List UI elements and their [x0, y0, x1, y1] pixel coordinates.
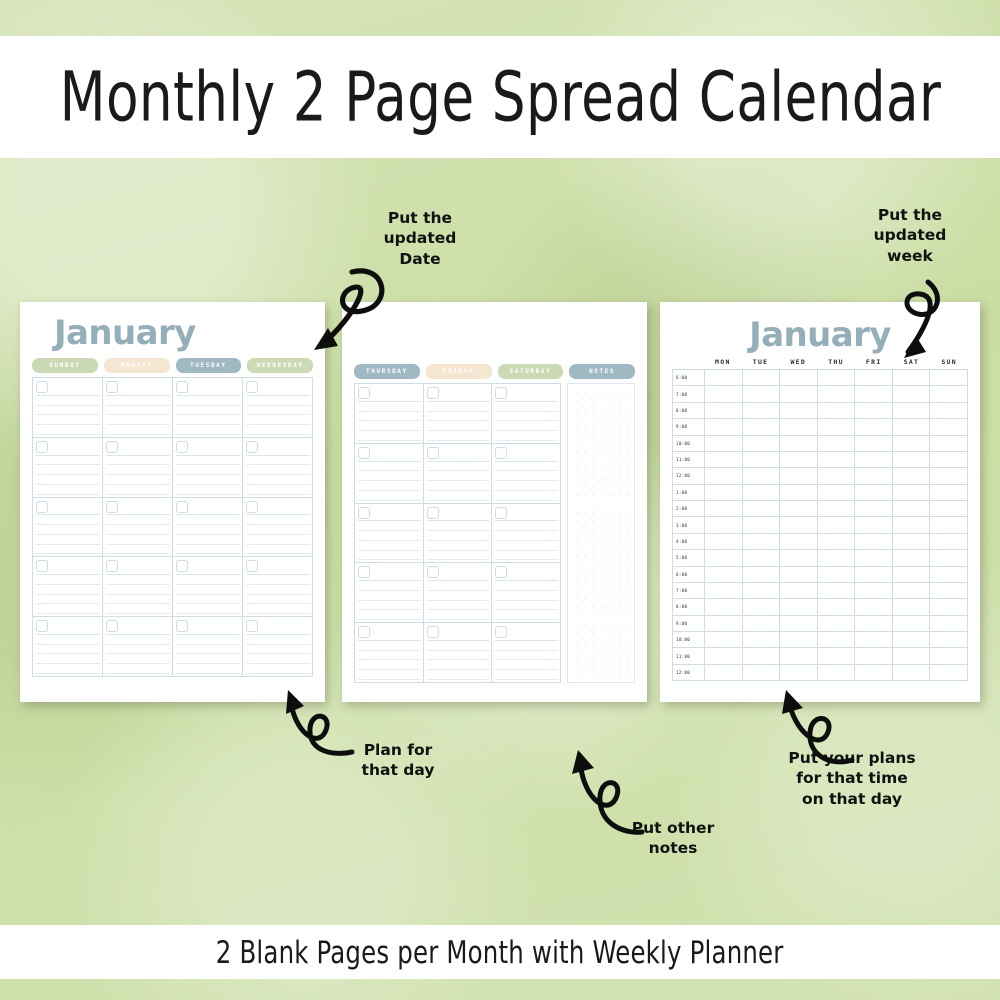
month-day-column[interactable]: [424, 384, 493, 682]
weekly-slot-cell[interactable]: [855, 370, 893, 385]
time-label: 11:00: [673, 452, 705, 467]
month-day-cell[interactable]: [492, 623, 560, 682]
month-day-cell[interactable]: [492, 444, 560, 504]
month-day-cell[interactable]: [424, 623, 492, 682]
weekly-slot-cell[interactable]: [705, 583, 743, 598]
weekly-slot-cell[interactable]: [893, 436, 931, 451]
writing-line: [36, 635, 100, 645]
writing-line: [176, 604, 240, 614]
weekly-slot-cell[interactable]: [930, 517, 967, 532]
writing-line: [176, 595, 240, 605]
weekly-slot-cell[interactable]: [855, 501, 893, 516]
weekly-slot-cell[interactable]: [780, 386, 818, 401]
weekly-slot-cell[interactable]: [705, 403, 743, 418]
writing-line: [495, 541, 558, 551]
weekly-slot-cell[interactable]: [893, 534, 931, 549]
weekly-slot-cell[interactable]: [705, 534, 743, 549]
weekly-slot-cell[interactable]: [705, 616, 743, 631]
writing-line: [176, 575, 240, 585]
weekly-slot-cell[interactable]: [743, 436, 781, 451]
date-number-box[interactable]: [106, 620, 118, 632]
weekly-slot-cell[interactable]: [743, 583, 781, 598]
weekly-slot-cell[interactable]: [893, 485, 931, 500]
writing-line: [106, 575, 170, 585]
weekly-slot-cell[interactable]: [893, 599, 931, 614]
weekly-slot-cell[interactable]: [818, 632, 856, 647]
weekly-slot-cell[interactable]: [893, 632, 931, 647]
date-number-box[interactable]: [427, 507, 439, 519]
writing-line: [358, 551, 421, 561]
weekly-slot-cell[interactable]: [893, 567, 931, 582]
writing-line: [106, 415, 170, 425]
date-number-box[interactable]: [176, 560, 188, 572]
weekly-slot-cell[interactable]: [893, 501, 931, 516]
monthly-spread-left-page[interactable]: January SUNDAY MONDAY TUESDAY WEDNESDAY: [20, 302, 325, 702]
weekly-slot-cell[interactable]: [705, 517, 743, 532]
weekly-slot-cell[interactable]: [855, 468, 893, 483]
date-number-box[interactable]: [176, 381, 188, 393]
weekly-slot-cell[interactable]: [743, 616, 781, 631]
weekly-slot-cell[interactable]: [855, 436, 893, 451]
date-number-box[interactable]: [176, 501, 188, 513]
weekly-slot-cell[interactable]: [705, 485, 743, 500]
weekly-slot-cell[interactable]: [930, 436, 967, 451]
month-day-cell[interactable]: [424, 563, 492, 623]
writing-line: [106, 406, 170, 416]
writing-lines: [358, 571, 421, 620]
writing-line: [358, 471, 421, 481]
weekly-slot-cell[interactable]: [705, 419, 743, 434]
weekly-slot-cell[interactable]: [743, 468, 781, 483]
weekly-slot-cell[interactable]: [818, 419, 856, 434]
weekly-slot-cell[interactable]: [818, 501, 856, 516]
date-number-box[interactable]: [495, 626, 507, 638]
weekly-slot-cell[interactable]: [743, 485, 781, 500]
date-number-box[interactable]: [36, 441, 48, 453]
weekly-slot-cell[interactable]: [743, 370, 781, 385]
weekly-slot-cell[interactable]: [855, 616, 893, 631]
weekly-slot-cell[interactable]: [855, 583, 893, 598]
writing-line: [495, 421, 558, 431]
monthly-grid-right[interactable]: [354, 383, 561, 683]
date-number-box[interactable]: [36, 560, 48, 572]
weekly-slot-cell[interactable]: [818, 468, 856, 483]
weekly-slot-cell[interactable]: [818, 567, 856, 582]
writing-line: [106, 465, 170, 475]
month-day-cell[interactable]: [243, 498, 312, 558]
weekly-slot-cell[interactable]: [818, 550, 856, 565]
writing-lines: [246, 506, 310, 555]
date-number-box[interactable]: [106, 501, 118, 513]
writing-lines: [495, 571, 558, 620]
weekly-time-row: 4:00: [673, 534, 967, 550]
weekly-slot-cell[interactable]: [705, 599, 743, 614]
writing-line: [246, 545, 310, 555]
writing-line: [176, 415, 240, 425]
month-day-cell[interactable]: [103, 617, 172, 676]
writing-lines: [106, 386, 170, 435]
weekly-slot-cell[interactable]: [743, 632, 781, 647]
weekly-slot-cell[interactable]: [743, 386, 781, 401]
weekly-slot-cell[interactable]: [893, 648, 931, 663]
weekly-slot-cell[interactable]: [818, 648, 856, 663]
weekly-slot-cell[interactable]: [780, 648, 818, 663]
month-day-column[interactable]: [173, 378, 243, 676]
month-day-cell[interactable]: [33, 617, 102, 676]
writing-line: [246, 475, 310, 485]
weekly-slot-cell[interactable]: [780, 485, 818, 500]
date-number-box[interactable]: [495, 507, 507, 519]
weekly-slot-cell[interactable]: [780, 452, 818, 467]
date-number-box[interactable]: [358, 566, 370, 578]
weekly-slot-cell[interactable]: [855, 632, 893, 647]
weekly-slot-cell[interactable]: [818, 386, 856, 401]
weekly-slot-cell[interactable]: [930, 567, 967, 582]
writing-line: [106, 664, 170, 674]
month-day-cell[interactable]: [492, 384, 560, 444]
writing-line: [176, 425, 240, 435]
weekly-slot-cell[interactable]: [780, 501, 818, 516]
weekly-slot-cell[interactable]: [780, 370, 818, 385]
date-number-box[interactable]: [495, 447, 507, 459]
time-label: 8:00: [673, 403, 705, 418]
month-day-cell[interactable]: [103, 438, 172, 498]
month-day-cell[interactable]: [424, 384, 492, 444]
weekly-slot-cell[interactable]: [855, 386, 893, 401]
monthly-grid-left[interactable]: [32, 377, 313, 677]
writing-line: [36, 415, 100, 425]
writing-line: [176, 485, 240, 495]
weekly-slot-cell[interactable]: [855, 452, 893, 467]
weekly-slot-cell[interactable]: [743, 419, 781, 434]
monthly-spread-right-page[interactable]: THURSDAY FRIDAY SATURDAY NOTES: [342, 302, 647, 702]
weekly-slot-cell[interactable]: [893, 468, 931, 483]
weekly-slot-cell[interactable]: [780, 567, 818, 582]
weekly-time-row: 7:00: [673, 386, 967, 402]
date-number-box[interactable]: [36, 501, 48, 513]
weekly-slot-cell[interactable]: [743, 501, 781, 516]
date-number-box[interactable]: [358, 626, 370, 638]
weekly-slot-cell[interactable]: [930, 583, 967, 598]
month-day-cell[interactable]: [355, 444, 423, 504]
writing-line: [358, 641, 421, 651]
month-day-cell[interactable]: [355, 504, 423, 564]
writing-line: [246, 645, 310, 655]
weekly-slot-cell[interactable]: [818, 534, 856, 549]
weekly-slot-cell[interactable]: [893, 452, 931, 467]
month-day-column[interactable]: [243, 378, 313, 676]
weekly-slot-cell[interactable]: [743, 599, 781, 614]
weekly-slot-cell[interactable]: [855, 534, 893, 549]
month-day-cell[interactable]: [243, 438, 312, 498]
date-number-box[interactable]: [427, 566, 439, 578]
writing-line: [358, 670, 421, 680]
weekly-slot-cell[interactable]: [818, 436, 856, 451]
weekly-slot-cell[interactable]: [705, 370, 743, 385]
time-label: 9:00: [673, 616, 705, 631]
month-day-column[interactable]: [103, 378, 173, 676]
month-day-cell[interactable]: [355, 563, 423, 623]
weekly-slot-cell[interactable]: [930, 616, 967, 631]
weekly-slot-cell[interactable]: [705, 386, 743, 401]
weekly-slot-cell[interactable]: [930, 403, 967, 418]
writing-lines: [106, 506, 170, 555]
writing-line: [495, 491, 558, 501]
month-day-cell[interactable]: [33, 378, 102, 438]
date-number-box[interactable]: [427, 387, 439, 399]
month-day-cell[interactable]: [243, 557, 312, 617]
weekly-slot-cell[interactable]: [855, 485, 893, 500]
month-day-cell[interactable]: [173, 378, 242, 438]
day-header-row-left: SUNDAY MONDAY TUESDAY WEDNESDAY: [32, 358, 313, 373]
weekly-slot-cell[interactable]: [705, 501, 743, 516]
month-day-cell[interactable]: [243, 617, 312, 676]
weekly-slot-cell[interactable]: [743, 403, 781, 418]
month-day-cell[interactable]: [33, 438, 102, 498]
weekly-slot-cell[interactable]: [705, 567, 743, 582]
weekly-slot-cell[interactable]: [818, 517, 856, 532]
writing-lines: [36, 506, 100, 555]
weekly-slot-cell[interactable]: [705, 550, 743, 565]
writing-line: [246, 664, 310, 674]
writing-lines: [427, 452, 490, 501]
writing-line: [358, 402, 421, 412]
writing-line: [358, 591, 421, 601]
weekly-slot-cell[interactable]: [855, 419, 893, 434]
writing-line: [106, 545, 170, 555]
writing-line: [36, 485, 100, 495]
month-day-cell[interactable]: [33, 498, 102, 558]
month-day-cell[interactable]: [173, 557, 242, 617]
weekly-slot-cell[interactable]: [893, 419, 931, 434]
writing-line: [358, 601, 421, 611]
date-number-box[interactable]: [106, 441, 118, 453]
weekly-slot-cell[interactable]: [930, 468, 967, 483]
weekly-slot-cell[interactable]: [893, 517, 931, 532]
month-day-cell[interactable]: [492, 563, 560, 623]
month-day-cell[interactable]: [103, 498, 172, 558]
weekly-slot-cell[interactable]: [855, 550, 893, 565]
weekly-slot-cell[interactable]: [780, 632, 818, 647]
day-header-saturday: SATURDAY: [498, 364, 564, 379]
weekly-slot-cell[interactable]: [855, 599, 893, 614]
weekly-slot-cell[interactable]: [930, 550, 967, 565]
writing-line: [36, 595, 100, 605]
writing-line: [495, 591, 558, 601]
date-number-box[interactable]: [495, 387, 507, 399]
writing-line: [106, 654, 170, 664]
month-day-cell[interactable]: [492, 504, 560, 564]
writing-line: [427, 421, 490, 431]
monthly-right-content: THURSDAY FRIDAY SATURDAY NOTES: [342, 302, 647, 702]
writing-line: [427, 402, 490, 412]
month-day-cell[interactable]: [243, 378, 312, 438]
weekly-slot-cell[interactable]: [930, 485, 967, 500]
month-day-column[interactable]: [492, 384, 561, 682]
writing-lines: [495, 452, 558, 501]
weekly-slot-cell[interactable]: [705, 452, 743, 467]
weekly-slot-cell[interactable]: [780, 403, 818, 418]
weekly-slot-cell[interactable]: [780, 599, 818, 614]
month-day-cell[interactable]: [33, 557, 102, 617]
date-number-box[interactable]: [358, 447, 370, 459]
month-day-cell[interactable]: [173, 617, 242, 676]
weekly-slot-cell[interactable]: [743, 517, 781, 532]
weekly-slot-cell[interactable]: [930, 370, 967, 385]
month-day-cell[interactable]: [103, 557, 172, 617]
date-number-box[interactable]: [246, 560, 258, 572]
weekly-slot-cell[interactable]: [893, 550, 931, 565]
weekly-slot-cell[interactable]: [893, 665, 931, 680]
weekly-slot-cell[interactable]: [930, 599, 967, 614]
weekly-slot-cell[interactable]: [855, 665, 893, 680]
weekly-slot-cell[interactable]: [780, 517, 818, 532]
weekly-time-row: 9:00: [673, 419, 967, 435]
weekly-slot-cell[interactable]: [855, 567, 893, 582]
weekly-slot-cell[interactable]: [705, 665, 743, 680]
date-number-box[interactable]: [176, 620, 188, 632]
date-number-box[interactable]: [495, 566, 507, 578]
date-number-box[interactable]: [246, 441, 258, 453]
writing-lines: [358, 392, 421, 441]
weekly-slot-cell[interactable]: [818, 583, 856, 598]
weekly-slot-cell[interactable]: [743, 665, 781, 680]
month-day-cell[interactable]: [173, 498, 242, 558]
weekly-slot-cell[interactable]: [930, 419, 967, 434]
weekly-time-row: 7:00: [673, 583, 967, 599]
weekly-slot-cell[interactable]: [818, 599, 856, 614]
weekly-time-row: 8:00: [673, 599, 967, 615]
month-day-cell[interactable]: [424, 444, 492, 504]
weekly-slot-cell[interactable]: [780, 616, 818, 631]
date-number-box[interactable]: [246, 381, 258, 393]
writing-line: [427, 481, 490, 491]
writing-line: [106, 475, 170, 485]
writing-line: [358, 651, 421, 661]
weekly-slot-cell[interactable]: [780, 550, 818, 565]
weekly-slot-cell[interactable]: [893, 583, 931, 598]
time-label: 12:00: [673, 665, 705, 680]
weekly-slot-cell[interactable]: [780, 665, 818, 680]
date-number-box[interactable]: [176, 441, 188, 453]
weekly-slot-cell[interactable]: [855, 517, 893, 532]
weekly-slot-cell[interactable]: [743, 534, 781, 549]
writing-lines: [176, 386, 240, 435]
writing-line: [36, 535, 100, 545]
weekly-slot-cell[interactable]: [705, 632, 743, 647]
weekly-slot-cell[interactable]: [893, 403, 931, 418]
weekday-header-mon: MON: [704, 358, 742, 366]
writing-line: [36, 604, 100, 614]
weekly-slot-cell[interactable]: [930, 452, 967, 467]
writing-line: [36, 525, 100, 535]
weekly-slot-cell[interactable]: [818, 452, 856, 467]
weekly-slot-cell[interactable]: [743, 550, 781, 565]
writing-line: [427, 591, 490, 601]
date-number-box[interactable]: [246, 620, 258, 632]
time-label: 10:00: [673, 436, 705, 451]
weekly-slot-cell[interactable]: [930, 665, 967, 680]
writing-line: [36, 465, 100, 475]
notes-panel[interactable]: [567, 383, 636, 683]
weekly-slot-cell[interactable]: [705, 648, 743, 663]
month-day-cell[interactable]: [424, 504, 492, 564]
weekly-slot-cell[interactable]: [893, 370, 931, 385]
month-day-column[interactable]: [355, 384, 424, 682]
weekly-slot-cell[interactable]: [930, 386, 967, 401]
footer-text: 2 Blank Pages per Month with Weekly Plan…: [216, 934, 784, 970]
weekly-slot-cell[interactable]: [705, 468, 743, 483]
weekly-slot-cell[interactable]: [780, 534, 818, 549]
weekly-time-row: 9:00: [673, 616, 967, 632]
weekly-slot-cell[interactable]: [780, 436, 818, 451]
date-number-box[interactable]: [36, 620, 48, 632]
month-day-cell[interactable]: [103, 378, 172, 438]
weekly-slot-cell[interactable]: [893, 616, 931, 631]
weekly-slot-cell[interactable]: [930, 648, 967, 663]
weekly-slot-cell[interactable]: [818, 485, 856, 500]
weekly-slot-cell[interactable]: [743, 567, 781, 582]
weekly-slot-cell[interactable]: [818, 665, 856, 680]
weekly-slot-cell[interactable]: [855, 403, 893, 418]
weekly-time-grid[interactable]: 6:007:008:009:0010:0011:0012:001:002:003…: [672, 369, 968, 681]
date-number-box[interactable]: [358, 507, 370, 519]
date-number-box[interactable]: [106, 381, 118, 393]
month-day-column[interactable]: [33, 378, 103, 676]
writing-line: [246, 575, 310, 585]
time-label: 6:00: [673, 567, 705, 582]
day-header-wednesday: WEDNESDAY: [247, 358, 313, 373]
date-number-box[interactable]: [358, 387, 370, 399]
weekly-slot-cell[interactable]: [893, 386, 931, 401]
writing-lines: [36, 625, 100, 674]
weekly-slot-cell[interactable]: [780, 468, 818, 483]
day-header-friday: FRIDAY: [426, 364, 492, 379]
weekly-slot-cell[interactable]: [818, 403, 856, 418]
weekly-slot-cell[interactable]: [743, 648, 781, 663]
weekly-slot-cell[interactable]: [930, 534, 967, 549]
date-number-box[interactable]: [427, 447, 439, 459]
writing-line: [495, 551, 558, 561]
weekly-planner-page[interactable]: January MONTUEWEDTHUFRISATSUN 6:007:008:…: [660, 302, 980, 702]
weekly-slot-cell[interactable]: [705, 436, 743, 451]
month-day-cell[interactable]: [355, 384, 423, 444]
date-number-box[interactable]: [36, 381, 48, 393]
writing-line: [427, 541, 490, 551]
weekly-slot-cell[interactable]: [855, 648, 893, 663]
weekly-slot-cell[interactable]: [930, 501, 967, 516]
weekly-slot-cell[interactable]: [780, 419, 818, 434]
weekly-slot-cell[interactable]: [818, 616, 856, 631]
weekly-slot-cell[interactable]: [743, 452, 781, 467]
date-number-box[interactable]: [427, 626, 439, 638]
writing-line: [358, 531, 421, 541]
weekly-time-row: 10:00: [673, 632, 967, 648]
month-day-cell[interactable]: [173, 438, 242, 498]
weekly-slot-cell[interactable]: [818, 370, 856, 385]
writing-line: [246, 515, 310, 525]
weekly-slot-cell[interactable]: [780, 583, 818, 598]
date-number-box[interactable]: [246, 501, 258, 513]
writing-lines: [246, 386, 310, 435]
time-label: 3:00: [673, 517, 705, 532]
month-day-cell[interactable]: [355, 623, 423, 682]
writing-lines: [176, 625, 240, 674]
writing-line: [176, 654, 240, 664]
writing-lines: [427, 631, 490, 680]
weekly-slot-cell[interactable]: [930, 632, 967, 647]
date-number-box[interactable]: [106, 560, 118, 572]
